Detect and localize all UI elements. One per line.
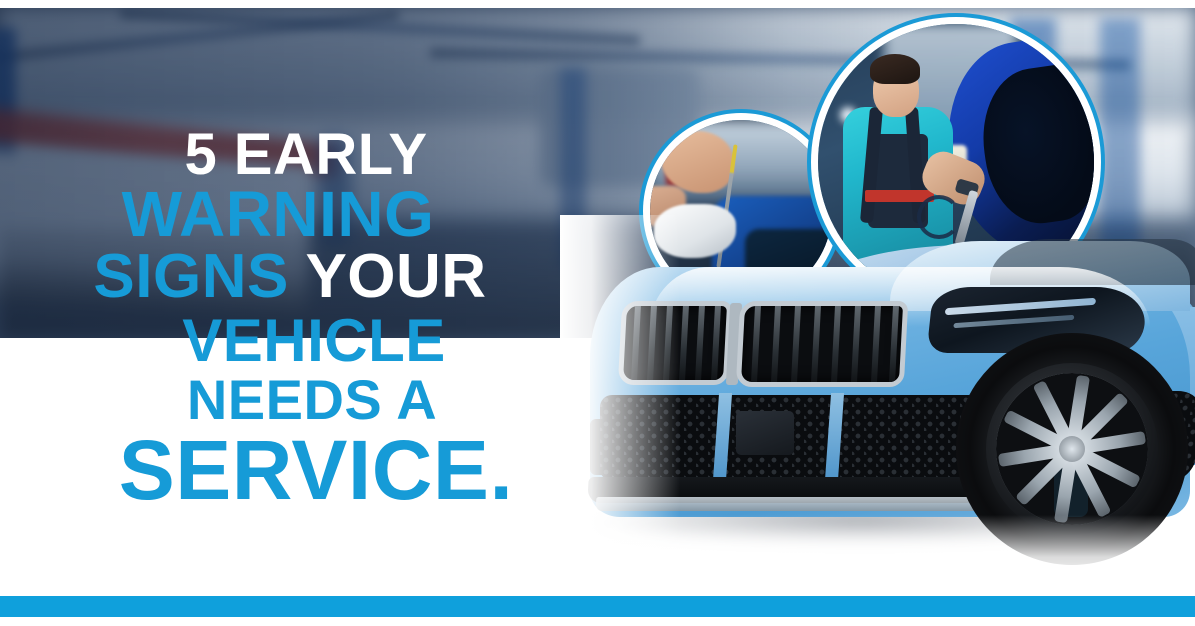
headline-line-2: WARNING <box>0 185 568 244</box>
headline-line-6: SERVICE. <box>26 432 606 509</box>
top-white-margin <box>0 0 1195 8</box>
headline-line-3: SIGNS YOUR <box>0 248 580 305</box>
kidney-grille-right <box>736 301 909 387</box>
foreground-car-photo <box>560 215 1195 585</box>
headline-line-4: VEHICLE <box>24 313 604 368</box>
headline-line-3-signs: SIGNS <box>93 242 288 311</box>
car-bottom-fade <box>560 515 1195 585</box>
headlight-drl-strip <box>953 315 1074 328</box>
alloy-wheel-rim <box>996 373 1148 525</box>
bottom-accent-bar <box>0 596 1195 617</box>
headline-line-3-your: YOUR <box>289 242 487 311</box>
headlight-drl-strip <box>945 298 1096 315</box>
headline-line-5: NEEDS A <box>22 374 602 426</box>
bottom-white-margin <box>0 617 1195 626</box>
headline-line-1: 5 EARLY <box>16 128 596 181</box>
wheel-hub-cap <box>1059 436 1085 462</box>
number-plate-recess <box>736 411 794 455</box>
mechanic-hair <box>870 54 920 84</box>
headline-block: 5 EARLY WARNING SIGNS YOUR VEHICLE NEEDS… <box>0 128 580 509</box>
service-banner: 5 EARLY WARNING SIGNS YOUR VEHICLE NEEDS… <box>0 0 1195 626</box>
